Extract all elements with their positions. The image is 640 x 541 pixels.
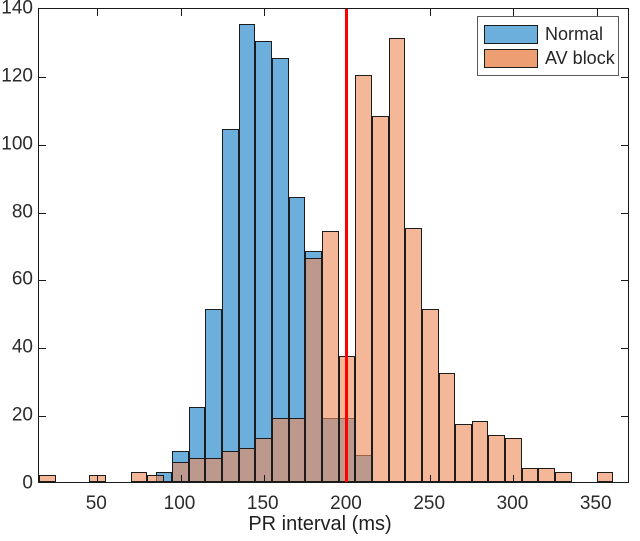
histogram-bar (305, 258, 322, 482)
legend-swatch-normal (484, 25, 538, 44)
x-axis-tick-top (264, 9, 265, 16)
y-axis-tick (39, 145, 46, 146)
x-axis-title: PR interval (ms) (0, 513, 640, 536)
histogram-bar (422, 309, 439, 482)
y-axis-tick-label: 120 (0, 66, 33, 85)
histogram-bar (322, 231, 339, 482)
x-axis-tick-label: 50 (66, 494, 126, 513)
y-axis-tick-label: 100 (0, 134, 33, 153)
y-axis-tick-right (621, 145, 628, 146)
legend-label-normal: Normal (545, 25, 603, 43)
histogram-bar (255, 41, 272, 482)
y-axis-tick-label: 60 (0, 270, 33, 289)
y-axis-tick (39, 77, 46, 78)
y-axis-tick-label: 140 (0, 0, 33, 18)
histogram-figure: 020406080100120140 50100150200250300350 … (0, 0, 640, 541)
y-axis-tick-right (621, 213, 628, 214)
histogram-bar (389, 38, 406, 482)
chart-legend: Normal AV block (477, 16, 619, 76)
histogram-bar (522, 468, 539, 482)
histogram-bar (205, 458, 222, 482)
legend-swatch-av-block (484, 49, 538, 68)
histogram-bar (455, 424, 472, 482)
bars-layer (39, 9, 628, 482)
histogram-bar (555, 472, 572, 482)
histogram-bar (355, 75, 372, 482)
y-axis-tick (39, 280, 46, 281)
histogram-bar (272, 418, 289, 482)
histogram-bar (488, 435, 505, 483)
histogram-bar (239, 448, 256, 482)
x-axis-tick-top (430, 9, 431, 16)
histogram-bar (538, 468, 555, 482)
y-axis-tick-label: 0 (0, 474, 33, 493)
x-axis-tick (97, 475, 98, 482)
histogram-bar (405, 228, 422, 482)
y-axis-tick-label: 40 (0, 338, 33, 357)
x-axis-tick-label: 300 (482, 494, 542, 513)
histogram-bar (439, 373, 456, 482)
x-axis-tick-label: 350 (566, 494, 626, 513)
x-axis-tick (430, 475, 431, 482)
histogram-bar (472, 421, 489, 482)
x-axis-tick (264, 475, 265, 482)
pr-threshold-line (345, 9, 348, 482)
y-axis-tick-right (621, 77, 628, 78)
x-axis-tick (181, 475, 182, 482)
x-axis-tick-top (97, 9, 98, 16)
legend-label-av-block: AV block (545, 49, 615, 67)
x-axis-tick-label: 150 (233, 494, 293, 513)
x-axis-tick (513, 475, 514, 482)
x-axis-tick-top (597, 9, 598, 16)
y-axis-tick-label: 20 (0, 406, 33, 425)
x-axis-tick-label: 200 (316, 494, 376, 513)
x-axis-tick-label: 250 (399, 494, 459, 513)
plot-area (38, 8, 629, 483)
histogram-bar (222, 451, 239, 482)
y-axis-tick-right (621, 280, 628, 281)
y-axis-tick (39, 348, 46, 349)
histogram-bar (131, 472, 148, 482)
histogram-bar (239, 24, 256, 482)
histogram-bar (222, 129, 239, 482)
y-axis-tick-label: 80 (0, 202, 33, 221)
histogram-bar (39, 475, 56, 482)
x-axis-tick (597, 475, 598, 482)
y-axis-tick (39, 416, 46, 417)
histogram-bar (205, 309, 222, 482)
x-axis-tick-top (513, 9, 514, 16)
histogram-bar (147, 475, 164, 482)
histogram-bar (189, 458, 206, 482)
histogram-bar (597, 472, 614, 482)
y-axis-tick-right (621, 348, 628, 349)
legend-item-av-block[interactable]: AV block (484, 46, 612, 70)
y-axis-tick (39, 213, 46, 214)
y-axis-tick-right (621, 416, 628, 417)
x-axis-tick-label: 100 (150, 494, 210, 513)
x-axis-tick-top (181, 9, 182, 16)
legend-item-normal[interactable]: Normal (484, 22, 612, 46)
histogram-bar (372, 116, 389, 482)
histogram-bar (289, 418, 306, 482)
